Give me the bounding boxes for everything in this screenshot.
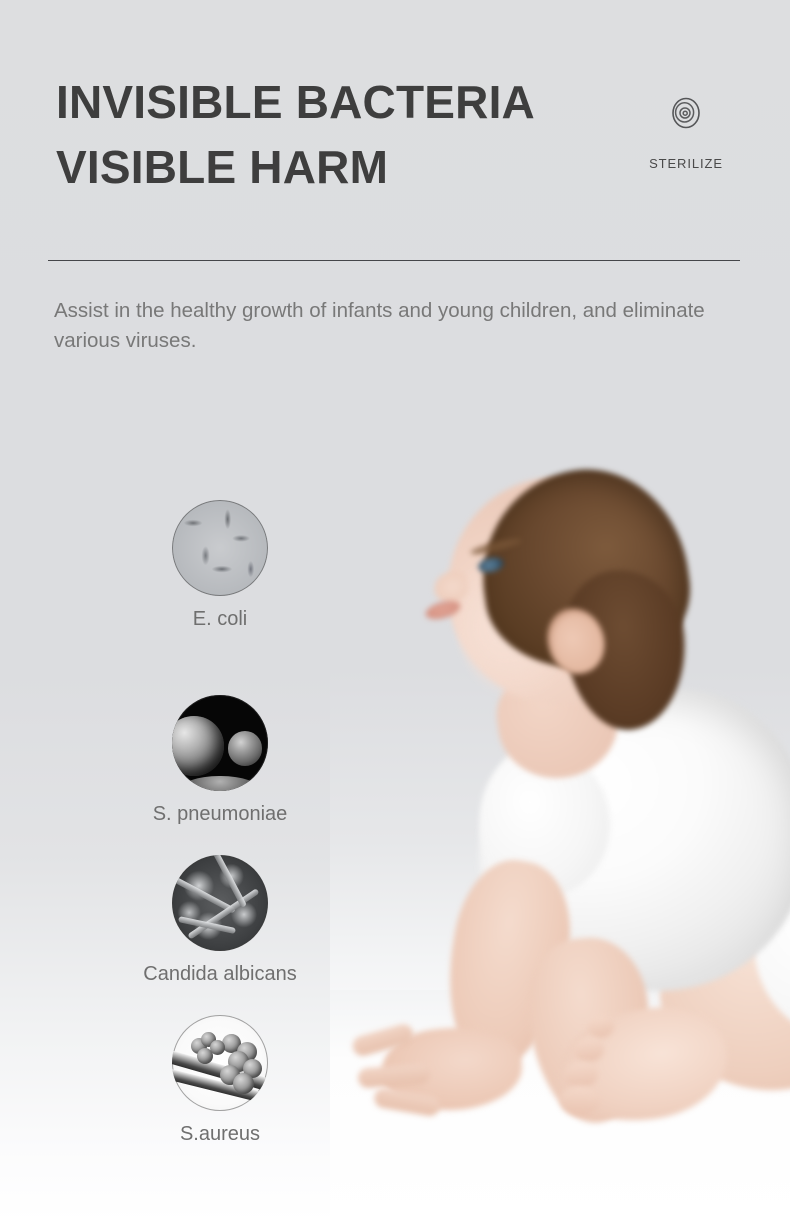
pneumoniae-micrograph xyxy=(172,695,268,791)
sterilize-badge: STERILIZE xyxy=(626,96,746,171)
aureus-micrograph xyxy=(172,1015,268,1111)
candida-hypha xyxy=(178,916,236,934)
bacteria-label: E. coli xyxy=(120,608,320,631)
list-item: Candida albicans xyxy=(120,855,320,986)
bacteria-label: S. pneumoniae xyxy=(120,803,320,826)
subtitle-text: Assist in the healthy growth of infants … xyxy=(54,296,754,356)
aureus-coccus xyxy=(210,1040,225,1055)
header-divider xyxy=(48,260,740,261)
list-item: S. pneumoniae xyxy=(120,695,320,826)
list-item: S.aureus xyxy=(120,1015,320,1146)
list-item: E. coli xyxy=(120,500,320,631)
baby-crawling-photo xyxy=(330,430,790,1222)
candida-micrograph xyxy=(172,855,268,951)
product-poster: INVISIBLE BACTERIA VISIBLE HARM STERILIZ… xyxy=(0,0,790,1222)
pneumococcus-small xyxy=(228,731,263,766)
pneumococcus-background-cell xyxy=(180,776,261,791)
page-title: INVISIBLE BACTERIA VISIBLE HARM xyxy=(56,70,656,201)
aureus-coccus xyxy=(233,1073,254,1094)
concentric-circles-icon xyxy=(669,96,703,130)
pneumococcus-large xyxy=(172,716,224,776)
sterilize-label: STERILIZE xyxy=(626,156,746,171)
ecoli-micrograph xyxy=(172,500,268,596)
bacteria-label: Candida albicans xyxy=(120,963,320,986)
bacteria-label: S.aureus xyxy=(120,1123,320,1146)
